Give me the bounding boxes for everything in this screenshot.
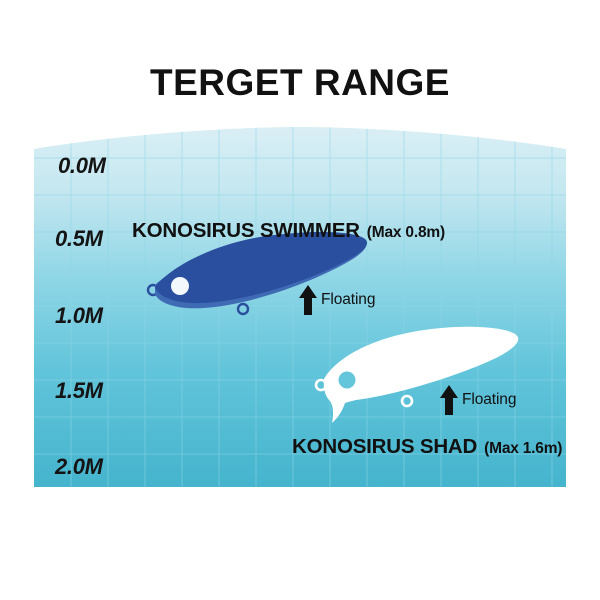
- lure-label-swimmer: KONOSIRUS SWIMMER(Max 0.8m): [132, 219, 445, 243]
- depth-label-0-0m: 0.0M: [58, 153, 106, 179]
- lure-depth-range-infographic: TERGET RANGE: [0, 0, 600, 600]
- lure-shad-max: (Max 1.6m): [484, 440, 562, 457]
- floating-annotation-swimmer: Floating: [299, 285, 375, 315]
- lure-swimmer-title: KONOSIRUS SWIMMER: [132, 219, 360, 242]
- water-column-panel: 0.0M 0.5M 1.0M 1.5M 2.0M KONOSIRUS SWIMM…: [34, 113, 566, 487]
- floating-annotation-shad: Floating: [440, 385, 516, 415]
- floating-label-shad: Floating: [462, 391, 516, 409]
- swimmer-eye: [171, 277, 189, 295]
- lure-label-shad: KONOSIRUS SHAD(Max 1.6m): [292, 435, 562, 459]
- depth-label-2-0m: 2.0M: [55, 454, 103, 480]
- depth-label-0-5m: 0.5M: [55, 226, 103, 252]
- arrow-up-icon: [440, 385, 458, 415]
- floating-label-swimmer: Floating: [321, 291, 375, 309]
- depth-label-1-5m: 1.5M: [55, 378, 103, 404]
- lure-shad-title: KONOSIRUS SHAD: [292, 435, 477, 458]
- shad-eye: [339, 372, 356, 389]
- lure-swimmer-max: (Max 0.8m): [367, 224, 445, 241]
- depth-label-1-0m: 1.0M: [55, 303, 103, 329]
- page-title: TERGET RANGE: [0, 62, 600, 104]
- arrow-up-icon: [299, 285, 317, 315]
